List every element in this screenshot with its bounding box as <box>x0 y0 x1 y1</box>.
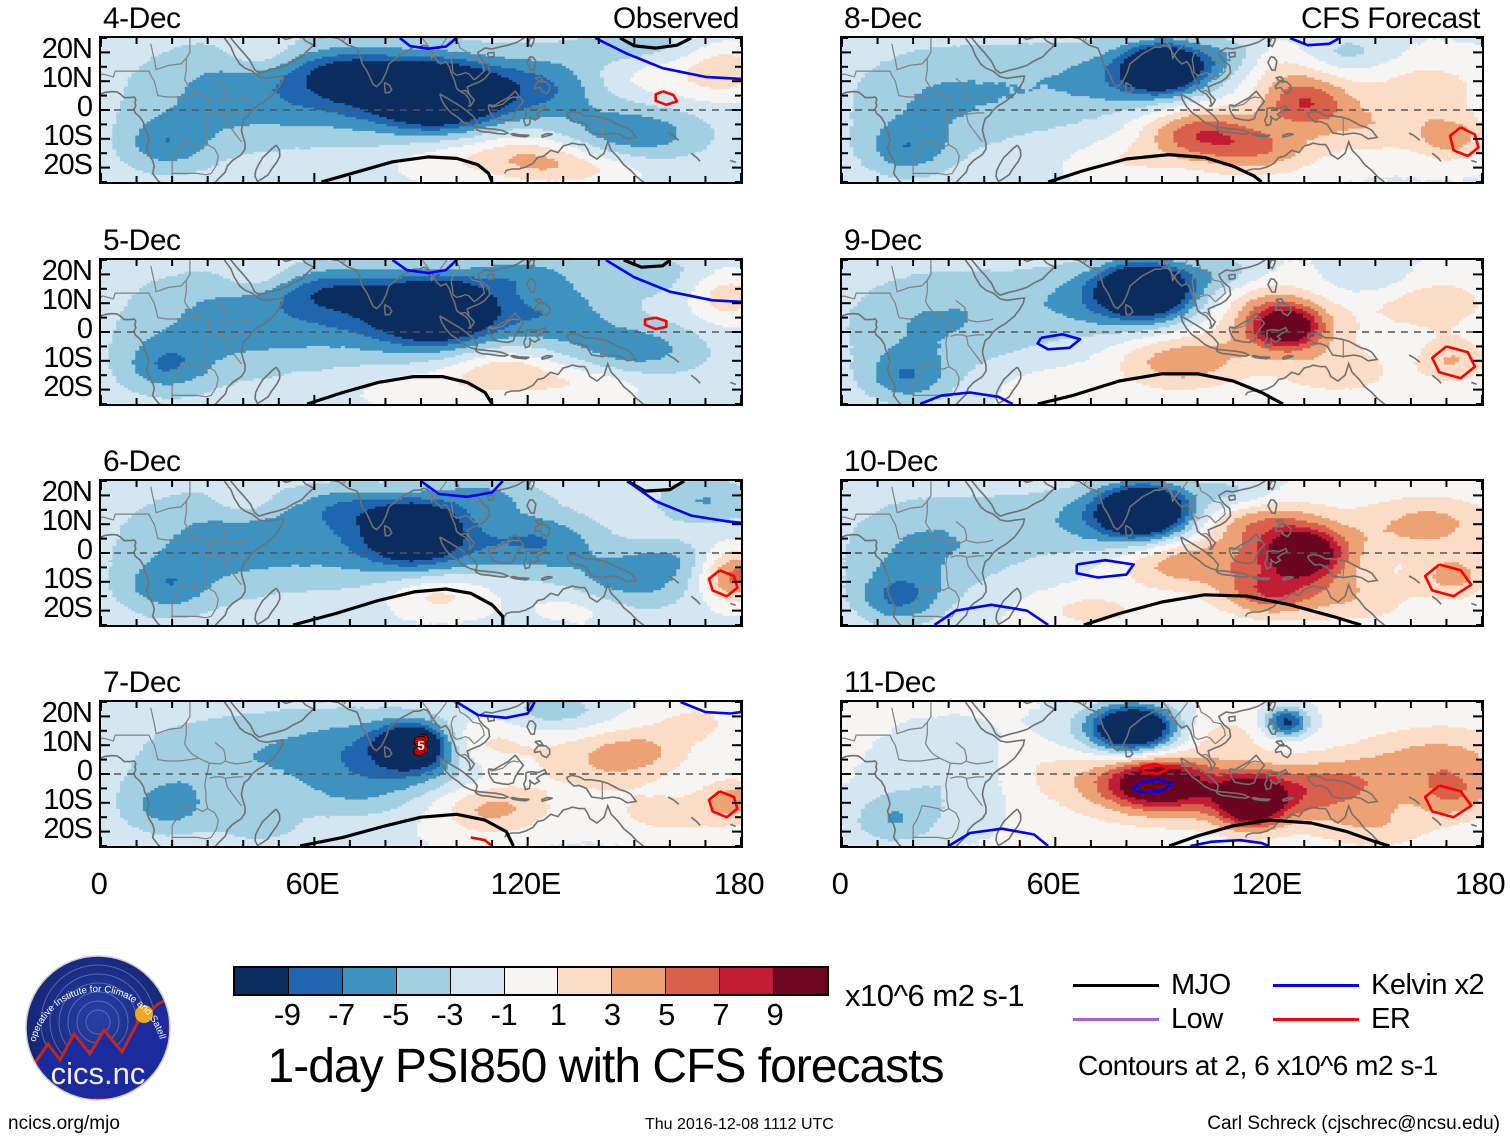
y-tick-label: 20S <box>43 373 92 402</box>
kelvin-line-icon <box>1273 984 1359 987</box>
svg-text:5: 5 <box>417 738 424 753</box>
map-plot-area <box>840 258 1484 406</box>
x-tick-label: 180 <box>714 866 764 902</box>
legend-label-low: Low <box>1171 1003 1223 1036</box>
x-tick-label: 0 <box>91 866 108 902</box>
y-tick-label: 0 <box>77 315 92 344</box>
y-tick-label: 0 <box>77 757 92 786</box>
colorbar-swatch <box>505 968 559 994</box>
map-plot-area <box>840 479 1484 627</box>
y-tick-label: 10N <box>42 64 92 93</box>
low-line-icon <box>1073 1018 1159 1021</box>
legend-label-er: ER <box>1371 1003 1410 1036</box>
footer-left-url[interactable]: ncics.org/mjo <box>8 1113 120 1135</box>
colorbar-swatch <box>666 968 720 994</box>
colorbar-swatch <box>558 968 612 994</box>
colorbar-tick-label: -3 <box>436 997 463 1033</box>
er-line-icon <box>1273 1018 1359 1021</box>
y-tick-label: 10S <box>43 786 92 815</box>
panel-date-label: 10-Dec <box>844 445 938 479</box>
x-tick-label: 60E <box>285 866 339 902</box>
colorbar-tick-label: -9 <box>274 997 301 1033</box>
colorbar-tick-label: -7 <box>328 997 355 1033</box>
colorbar-tick-label: 7 <box>712 997 729 1033</box>
panel-date-label: 9-Dec <box>844 224 922 258</box>
colorbar-swatch <box>720 968 774 994</box>
figure-title: 1-day PSI850 with CFS forecasts <box>218 1039 993 1094</box>
panel-date-label: 11-Dec <box>844 666 935 700</box>
colorbar-tick-label: -1 <box>491 997 518 1033</box>
logo-wordmark: cics.nc <box>51 1056 146 1091</box>
y-tick-label: 10N <box>42 286 92 315</box>
y-tick-label: 20N <box>42 699 92 728</box>
column-header-observed: Observed <box>99 2 739 36</box>
colorbar-tick-label: 1 <box>550 997 567 1033</box>
map-plot-area <box>840 36 1484 184</box>
colorbar-tick-label: 3 <box>604 997 621 1033</box>
x-axis-tick-labels: 060E120E180 <box>99 866 739 906</box>
footer-timestamp: Thu 2016-12-08 1112 UTC <box>645 1116 834 1134</box>
colorbar-swatch <box>612 968 666 994</box>
y-axis-tick-labels: 20N10N010S20S <box>4 700 92 844</box>
y-tick-label: 20S <box>43 594 92 623</box>
colorbar-tick-labels: -9-7-5-3-113579 <box>233 997 829 1031</box>
map-plot-area: 5 <box>99 700 743 848</box>
y-tick-label: 10S <box>43 122 92 151</box>
legend-item-kelvin: Kelvin x2 <box>1273 969 1473 1002</box>
colorbar-tick-label: 5 <box>658 997 675 1033</box>
legend-label-mjo: MJO <box>1171 969 1231 1002</box>
legend-row: Low ER <box>1073 1002 1493 1036</box>
cics-nc-logo: cics.nc Cooperative Institute for Climat… <box>18 948 178 1108</box>
y-tick-label: 10N <box>42 728 92 757</box>
legend-item-low: Low <box>1073 1003 1273 1036</box>
colorbar-swatch <box>397 968 451 994</box>
contour-interval-note: Contours at 2, 6 x10^6 m2 s-1 <box>1078 1050 1438 1082</box>
legend-label-kelvin: Kelvin x2 <box>1371 969 1484 1002</box>
y-axis-tick-labels: 20N10N010S20S <box>4 479 92 623</box>
colorbar-swatch <box>289 968 343 994</box>
map-plot-area <box>99 258 743 406</box>
y-tick-label: 10N <box>42 507 92 536</box>
colorbar-tick-label: -5 <box>382 997 409 1033</box>
y-tick-label: 10S <box>43 344 92 373</box>
x-tick-label: 0 <box>832 866 849 902</box>
y-tick-label: 20N <box>42 35 92 64</box>
x-tick-label: 180 <box>1455 866 1505 902</box>
map-plot-area <box>99 479 743 627</box>
y-tick-label: 0 <box>77 93 92 122</box>
y-tick-label: 20S <box>43 151 92 180</box>
colorbar-swatches <box>233 966 829 996</box>
colorbar-tick-label: 9 <box>766 997 783 1033</box>
mjo-line-icon <box>1073 984 1159 987</box>
y-tick-label: 20N <box>42 478 92 507</box>
x-tick-label: 120E <box>490 866 560 902</box>
panel-date-label: 5-Dec <box>103 224 181 258</box>
y-tick-label: 20S <box>43 815 92 844</box>
y-tick-label: 20N <box>42 257 92 286</box>
legend-row: MJO Kelvin x2 <box>1073 968 1493 1002</box>
colorbar: -9-7-5-3-113579 <box>233 966 829 1031</box>
y-axis-tick-labels: 20N10N010S20S <box>4 36 92 180</box>
map-plot-area <box>840 700 1484 848</box>
colorbar-swatch <box>235 968 289 994</box>
map-plot-area <box>99 36 743 184</box>
x-tick-label: 120E <box>1231 866 1301 902</box>
colorbar-swatch <box>774 968 827 994</box>
colorbar-units-label: x10^6 m2 s-1 <box>845 978 1024 1014</box>
panel-date-label: 7-Dec <box>103 666 181 700</box>
panel-date-label: 6-Dec <box>103 445 181 479</box>
tropical-cyclone-marker: 5 <box>414 734 429 756</box>
x-tick-label: 60E <box>1026 866 1080 902</box>
x-axis-tick-labels: 060E120E180 <box>840 866 1480 906</box>
contour-legend: MJO Kelvin x2 Low ER <box>1073 968 1493 1036</box>
y-tick-label: 10S <box>43 565 92 594</box>
footer-author: Carl Schreck (cjschrec@ncsu.edu) <box>1207 1113 1500 1135</box>
y-tick-label: 0 <box>77 536 92 565</box>
legend-item-er: ER <box>1273 1003 1473 1036</box>
colorbar-swatch <box>451 968 505 994</box>
y-axis-tick-labels: 20N10N010S20S <box>4 258 92 402</box>
colorbar-swatch <box>343 968 397 994</box>
column-header-forecast: CFS Forecast <box>840 2 1480 36</box>
legend-item-mjo: MJO <box>1073 969 1273 1002</box>
